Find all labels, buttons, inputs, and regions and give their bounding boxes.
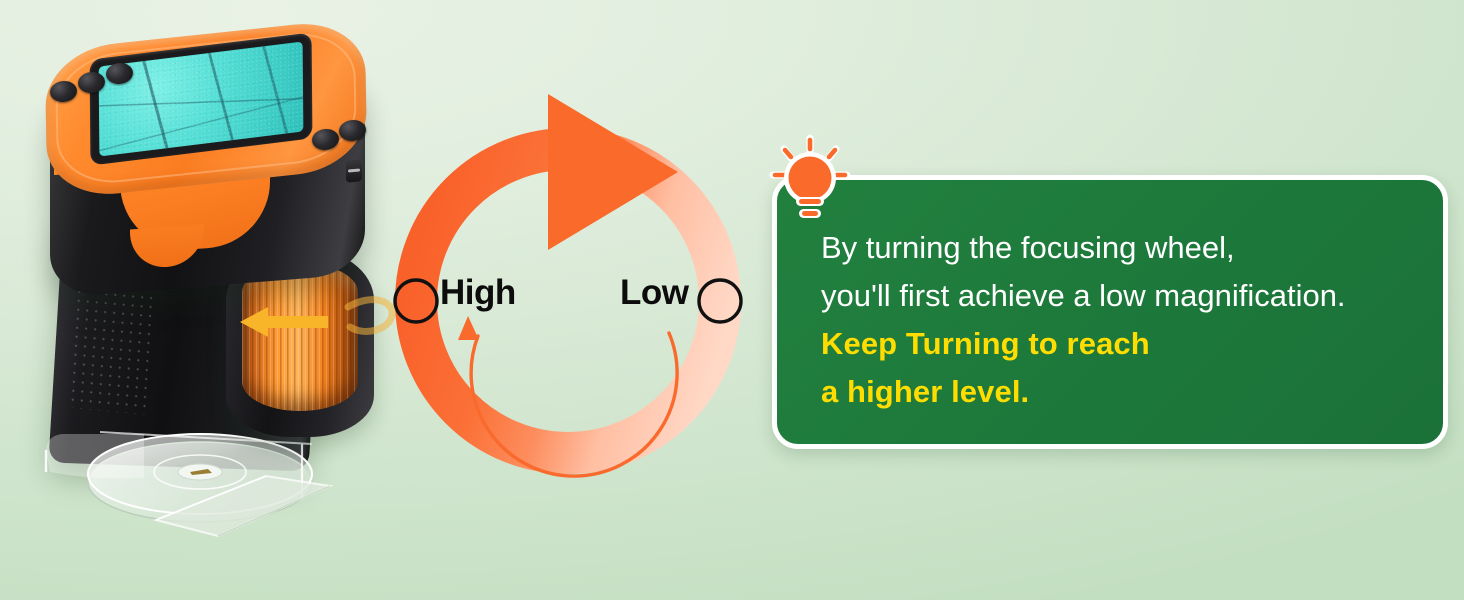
specimen-grain <box>99 42 304 157</box>
dial-label-low: Low <box>620 273 688 313</box>
microscope-illustration: BEBANG® <box>28 22 408 578</box>
instruction-callout: By turning the focusing wheel, you'll fi… <box>766 168 1454 456</box>
side-port-icon <box>346 159 362 182</box>
infographic-canvas: BEBANG® <box>0 0 1464 600</box>
dial-big-arrow-icon <box>548 94 678 250</box>
dial-inner-arrowhead-icon <box>458 316 479 340</box>
lcd-screen[interactable] <box>99 42 304 157</box>
magnification-dial: High Low <box>382 88 754 488</box>
callout-line-4: a higher level. <box>821 368 1419 416</box>
dial-label-high: High <box>440 273 516 313</box>
callout-line-1: By turning the focusing wheel, <box>821 224 1419 272</box>
callout-line-3: Keep Turning to reach <box>821 320 1419 368</box>
lightbulb-icon <box>766 134 854 230</box>
callout-box: By turning the focusing wheel, you'll fi… <box>772 175 1448 449</box>
callout-line-2: you'll first achieve a low magnification… <box>821 272 1419 320</box>
specimen-slide <box>148 474 338 544</box>
wheel-rotation-hint-icon <box>344 295 398 341</box>
callout-text-block: By turning the focusing wheel, you'll fi… <box>821 224 1419 416</box>
wheel-direction-arrow-icon <box>238 305 330 339</box>
